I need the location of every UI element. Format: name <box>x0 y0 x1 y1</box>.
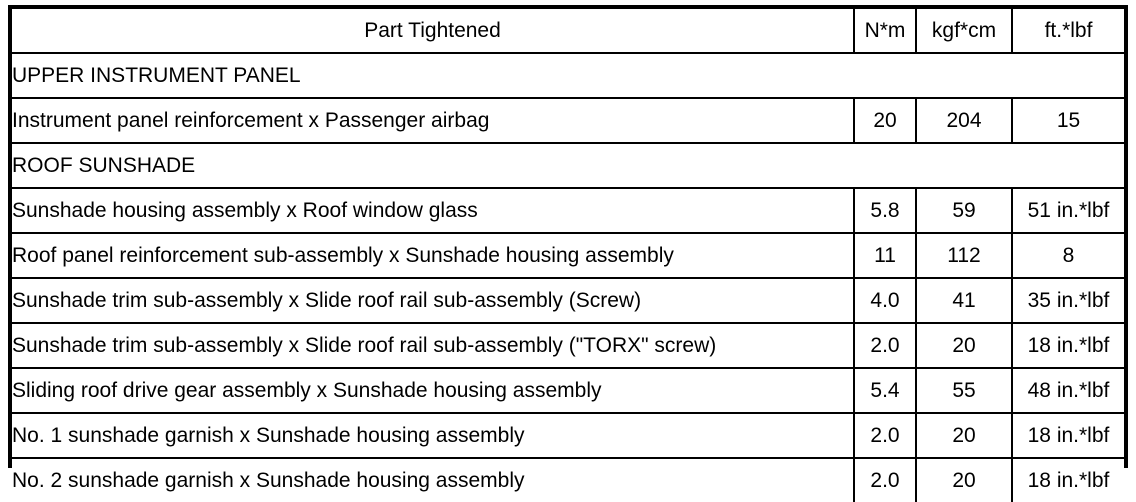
cell-newton-meter: 2.0 <box>854 413 916 458</box>
cell-part-tightened: Sunshade trim sub-assembly x Slide roof … <box>12 278 854 323</box>
cell-kgf-cm: 20 <box>916 323 1012 368</box>
cell-newton-meter: 5.4 <box>854 368 916 413</box>
cell-newton-meter: 11 <box>854 233 916 278</box>
cell-part-tightened: Instrument panel reinforcement x Passeng… <box>12 98 854 143</box>
cell-newton-meter: 20 <box>854 98 916 143</box>
cell-ft-lbf: 48 in.*lbf <box>1012 368 1124 413</box>
cell-newton-meter: 5.8 <box>854 188 916 233</box>
cell-part-tightened: Sliding roof drive gear assembly x Sunsh… <box>12 368 854 413</box>
section-heading: ROOF SUNSHADE <box>12 143 1124 188</box>
cell-part-tightened: No. 2 sunshade garnish x Sunshade housin… <box>12 458 854 502</box>
cell-kgf-cm: 204 <box>916 98 1012 143</box>
table-row: Roof panel reinforcement sub-assembly x … <box>12 233 1124 278</box>
table-row: Sunshade housing assembly x Roof window … <box>12 188 1124 233</box>
column-header-kgf-cm: kgf*cm <box>916 9 1012 53</box>
cell-kgf-cm: 41 <box>916 278 1012 323</box>
cell-part-tightened: No. 1 sunshade garnish x Sunshade housin… <box>12 413 854 458</box>
torque-specification-table-frame: Part Tightened N*m kgf*cm ft.*lbf UPPER … <box>8 5 1128 468</box>
cell-ft-lbf: 35 in.*lbf <box>1012 278 1124 323</box>
table-section-row: ROOF SUNSHADE <box>12 143 1124 188</box>
cell-kgf-cm: 59 <box>916 188 1012 233</box>
column-header-ft-lbf: ft.*lbf <box>1012 9 1124 53</box>
cell-part-tightened: Sunshade trim sub-assembly x Slide roof … <box>12 323 854 368</box>
cell-ft-lbf: 18 in.*lbf <box>1012 458 1124 502</box>
table-row: Instrument panel reinforcement x Passeng… <box>12 98 1124 143</box>
cell-ft-lbf: 15 <box>1012 98 1124 143</box>
cell-ft-lbf: 18 in.*lbf <box>1012 323 1124 368</box>
cell-ft-lbf: 18 in.*lbf <box>1012 413 1124 458</box>
table-section-row: UPPER INSTRUMENT PANEL <box>12 53 1124 98</box>
table-header: Part Tightened N*m kgf*cm ft.*lbf <box>12 9 1124 53</box>
cell-kgf-cm: 55 <box>916 368 1012 413</box>
cell-kgf-cm: 20 <box>916 413 1012 458</box>
cell-ft-lbf: 8 <box>1012 233 1124 278</box>
table-row: No. 2 sunshade garnish x Sunshade housin… <box>12 458 1124 502</box>
table-header-row: Part Tightened N*m kgf*cm ft.*lbf <box>12 9 1124 53</box>
cell-kgf-cm: 112 <box>916 233 1012 278</box>
section-heading: UPPER INSTRUMENT PANEL <box>12 53 1124 98</box>
cell-newton-meter: 2.0 <box>854 323 916 368</box>
cell-kgf-cm: 20 <box>916 458 1012 502</box>
column-header-newton-meter: N*m <box>854 9 916 53</box>
table-row: Sliding roof drive gear assembly x Sunsh… <box>12 368 1124 413</box>
cell-ft-lbf: 51 in.*lbf <box>1012 188 1124 233</box>
cell-part-tightened: Sunshade housing assembly x Roof window … <box>12 188 854 233</box>
cell-part-tightened: Roof panel reinforcement sub-assembly x … <box>12 233 854 278</box>
table-row: Sunshade trim sub-assembly x Slide roof … <box>12 323 1124 368</box>
cell-newton-meter: 4.0 <box>854 278 916 323</box>
table-body: UPPER INSTRUMENT PANELInstrument panel r… <box>12 53 1124 502</box>
torque-specification-table: Part Tightened N*m kgf*cm ft.*lbf UPPER … <box>12 9 1124 502</box>
table-row: Sunshade trim sub-assembly x Slide roof … <box>12 278 1124 323</box>
column-header-part-tightened: Part Tightened <box>12 9 854 53</box>
table-row: No. 1 sunshade garnish x Sunshade housin… <box>12 413 1124 458</box>
cell-newton-meter: 2.0 <box>854 458 916 502</box>
